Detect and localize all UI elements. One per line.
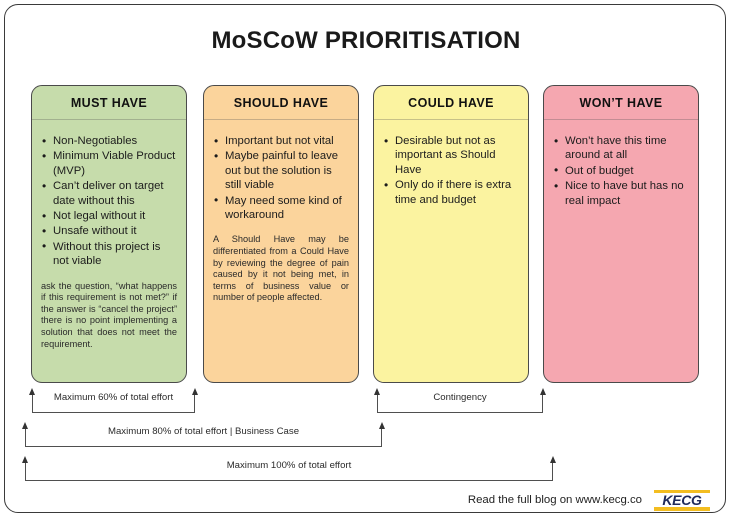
priority-card-must-have: MUST HAVE Non-Negotiables Minimum Viable… [31, 85, 187, 383]
list-item: Not legal without it [41, 209, 177, 223]
bracket-max-60-percent: Maximum 60% of total effort [32, 391, 195, 413]
logo-text: KECG [662, 492, 701, 508]
bracket-label: Maximum 100% of total effort [25, 460, 553, 471]
card-body-must-have: Non-Negotiables Minimum Viable Product (… [32, 120, 186, 350]
bracket-bar [25, 480, 553, 481]
list-item: Can’t deliver on target date without thi… [41, 179, 177, 208]
priority-card-could-have: COULD HAVE Desirable but not as importan… [373, 85, 529, 383]
list-item: Minimum Viable Product (MVP) [41, 149, 177, 178]
bracket-label: Contingency [377, 392, 543, 403]
card-body-could-have: Desirable but not as important as Should… [374, 120, 528, 207]
card-header-wont-have: WON’T HAVE [544, 86, 698, 120]
bracket-bar [377, 412, 543, 413]
bracket-max-100-percent: Maximum 100% of total effort [25, 459, 553, 481]
list-item: Without this project is not viable [41, 240, 177, 269]
priority-card-wont-have: WON’T HAVE Won’t have this time around a… [543, 85, 699, 383]
list-item: Nice to have but has no real impact [553, 179, 689, 208]
list-item: Desirable but not as important as Should… [383, 134, 519, 177]
footer: Read the full blog on www.kecg.co KECG [5, 487, 727, 513]
card-header-must-have: MUST HAVE [32, 86, 186, 120]
card-header-could-have: COULD HAVE [374, 86, 528, 120]
priority-cards-row: MUST HAVE Non-Negotiables Minimum Viable… [5, 85, 727, 383]
bullet-list-wont-have: Won’t have this time around at all Out o… [553, 134, 689, 208]
bullet-list-could-have: Desirable but not as important as Should… [383, 134, 519, 207]
list-item: Maybe painful to leave out but the solut… [213, 149, 349, 192]
list-item: Unsafe without it [41, 224, 177, 238]
list-item: Won’t have this time around at all [553, 134, 689, 163]
bracket-bar [32, 412, 195, 413]
kecg-logo: KECG [653, 489, 711, 511]
page-title: MoSCoW PRIORITISATION [5, 27, 727, 55]
bracket-bar [25, 446, 382, 447]
bracket-contingency: Contingency [377, 391, 543, 413]
card-note-must-have: ask the question, “what happens if this … [41, 281, 177, 351]
bullet-list-should-have: Important but not vital Maybe painful to… [213, 134, 349, 222]
diagram-frame: MoSCoW PRIORITISATION MUST HAVE Non-Nego… [4, 4, 726, 513]
bracket-label: Maximum 60% of total effort [32, 392, 195, 403]
list-item: Important but not vital [213, 134, 349, 148]
card-header-should-have: SHOULD HAVE [204, 86, 358, 120]
footer-blog-text: Read the full blog on www.kecg.co [468, 494, 642, 506]
list-item: Only do if there is extra time and budge… [383, 178, 519, 207]
list-item: May need some kind of workaround [213, 194, 349, 223]
effort-brackets: Maximum 60% of total effort Contingency … [5, 387, 727, 485]
bullet-list-must-have: Non-Negotiables Minimum Viable Product (… [41, 134, 177, 269]
list-item: Non-Negotiables [41, 134, 177, 148]
card-body-should-have: Important but not vital Maybe painful to… [204, 120, 358, 304]
card-body-wont-have: Won’t have this time around at all Out o… [544, 120, 698, 208]
bracket-max-80-percent: Maximum 80% of total effort | Business C… [25, 425, 382, 447]
priority-card-should-have: SHOULD HAVE Important but not vital Mayb… [203, 85, 359, 383]
bracket-label: Maximum 80% of total effort | Business C… [25, 426, 382, 437]
list-item: Out of budget [553, 164, 689, 178]
card-note-should-have: A Should Have may be differentiated from… [213, 234, 349, 304]
